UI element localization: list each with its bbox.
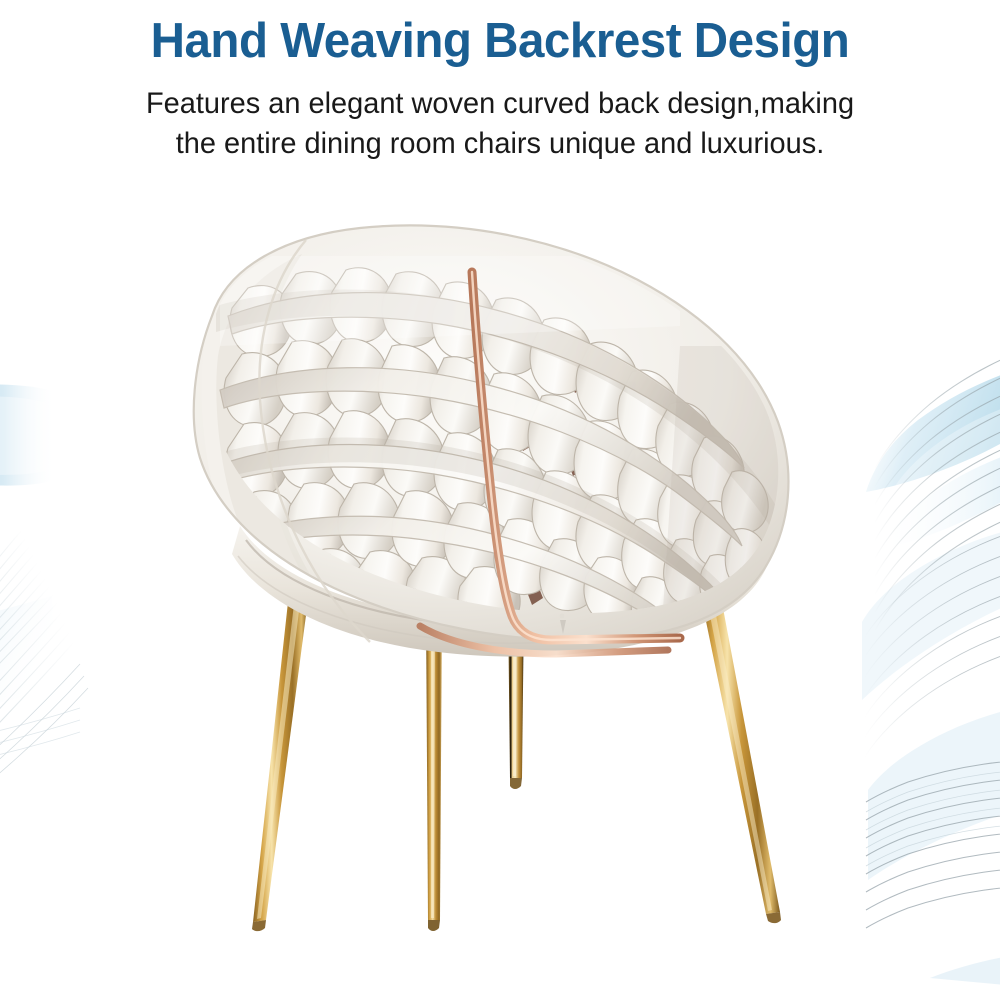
page-title: Hand Weaving Backrest Design [15, 12, 985, 70]
page-subtitle-line-2: the entire dining room chairs unique and… [75, 124, 924, 164]
page-subtitle: Features an elegant woven curved back de… [75, 84, 924, 164]
woven-dining-chair-illustration [120, 196, 880, 986]
chair-leg-rear-left [426, 608, 442, 931]
chair-leg-front-right [700, 592, 781, 923]
product-feature-banner: Hand Weaving Backrest Design Features an… [0, 0, 1000, 1000]
header-block: Hand Weaving Backrest Design Features an… [0, 12, 1000, 164]
chair-leg-front-left [252, 600, 308, 931]
page-subtitle-line-1: Features an elegant woven curved back de… [75, 84, 924, 124]
product-photo [120, 196, 880, 986]
